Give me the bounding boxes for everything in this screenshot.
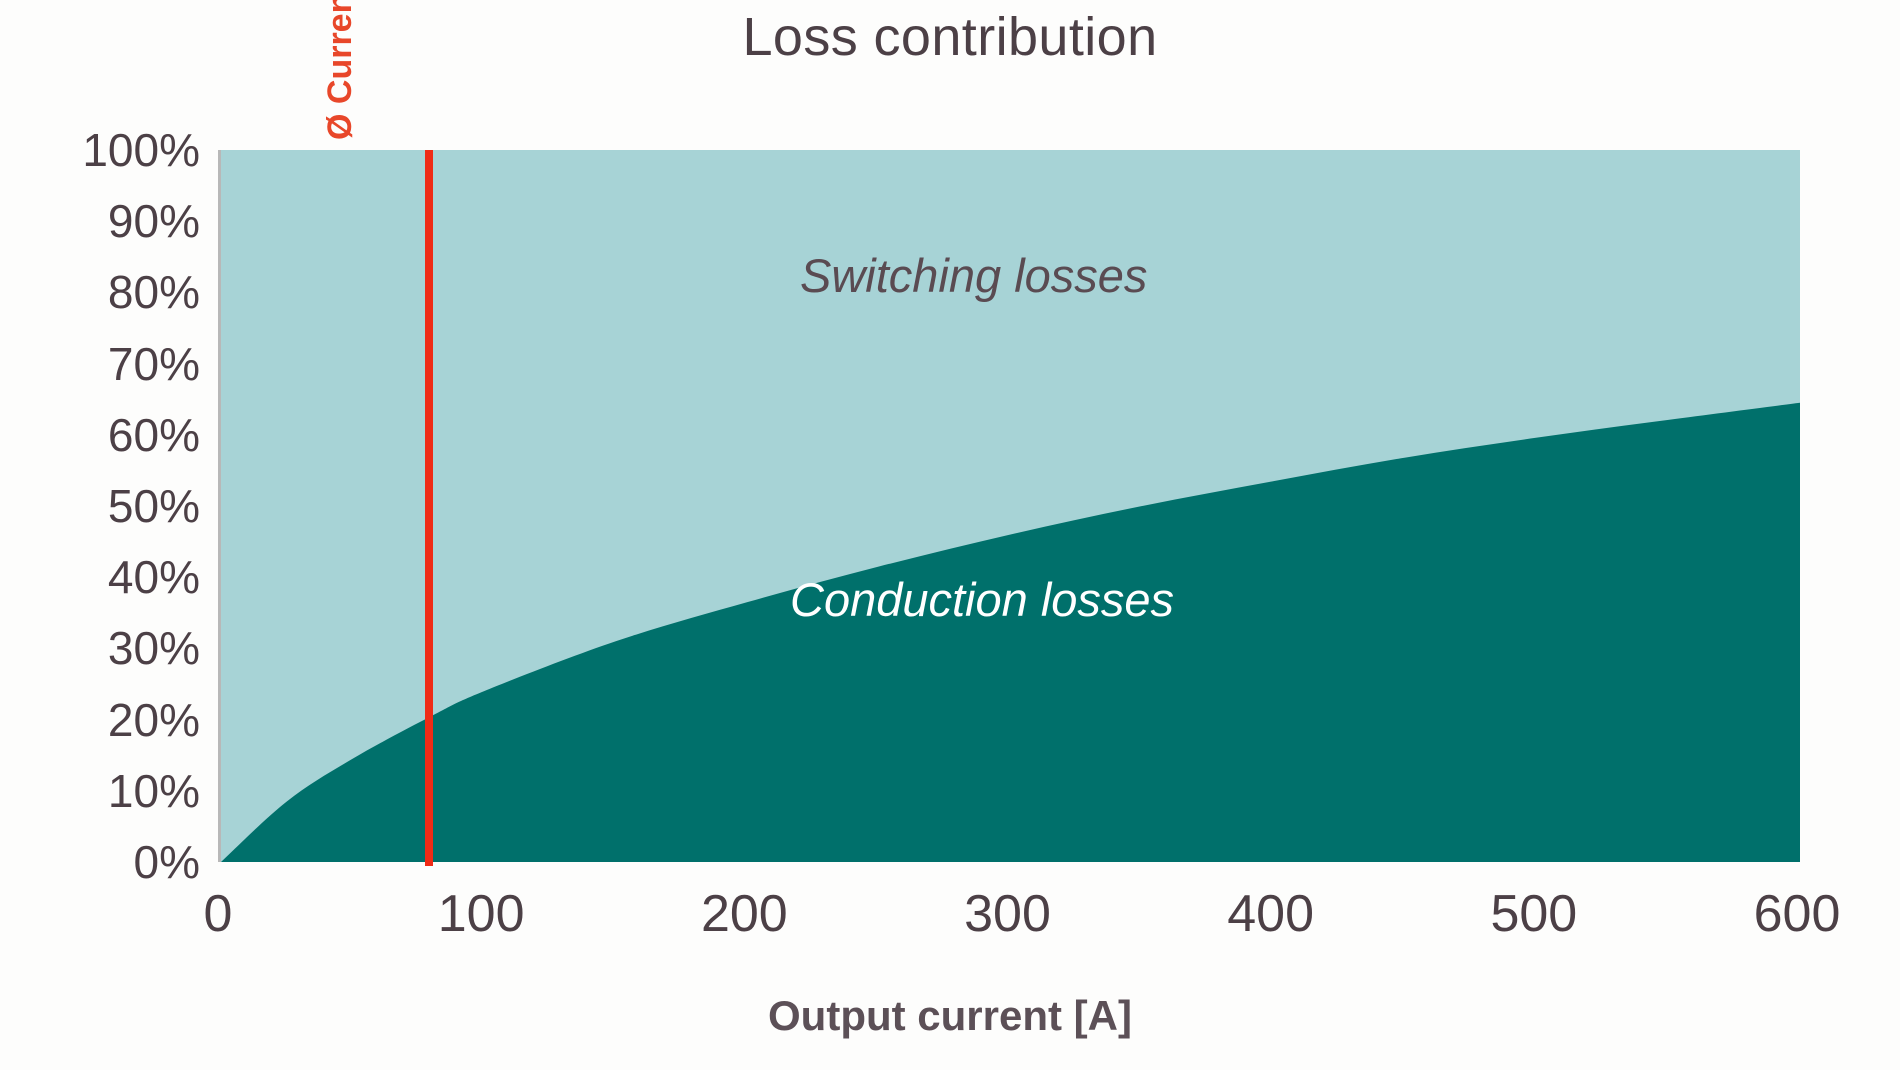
x-axis-tick-label: 400	[1171, 888, 1371, 940]
series-label-conduction-losses: Conduction losses	[790, 572, 1174, 627]
series-label-switching-losses: Switching losses	[800, 248, 1147, 303]
y-axis-tick-label: 10%	[0, 768, 200, 814]
x-axis-tick-label: 300	[908, 888, 1108, 940]
y-axis-tick-label: 20%	[0, 697, 200, 743]
y-axis-tick-label: 80%	[0, 269, 200, 315]
y-axis-tick-label: 70%	[0, 341, 200, 387]
y-axis-tick-label: 30%	[0, 625, 200, 671]
y-axis-tick-label: 90%	[0, 198, 200, 244]
x-axis-tick-label: 0	[118, 888, 318, 940]
chart-container: Loss contribution 0%10%20%30%40%50%60%70…	[0, 0, 1900, 1070]
y-axis-tick-label: 40%	[0, 554, 200, 600]
y-axis-tick-label: 100%	[0, 127, 200, 173]
chart-title: Loss contribution	[0, 6, 1900, 68]
y-axis-tick-label: 50%	[0, 483, 200, 529]
y-axis-tick-label: 0%	[0, 839, 200, 885]
x-axis-tick-label: 200	[644, 888, 844, 940]
x-axis-tick-label: 100	[381, 888, 581, 940]
y-axis-tick-label: 60%	[0, 412, 200, 458]
x-axis-tick-label: 600	[1697, 888, 1897, 940]
x-axis-tick-label: 500	[1434, 888, 1634, 940]
x-axis: 0100200300400500600	[0, 888, 1900, 958]
x-axis-title: Output current [A]	[0, 992, 1900, 1040]
highway-driving-marker-line	[425, 150, 433, 866]
